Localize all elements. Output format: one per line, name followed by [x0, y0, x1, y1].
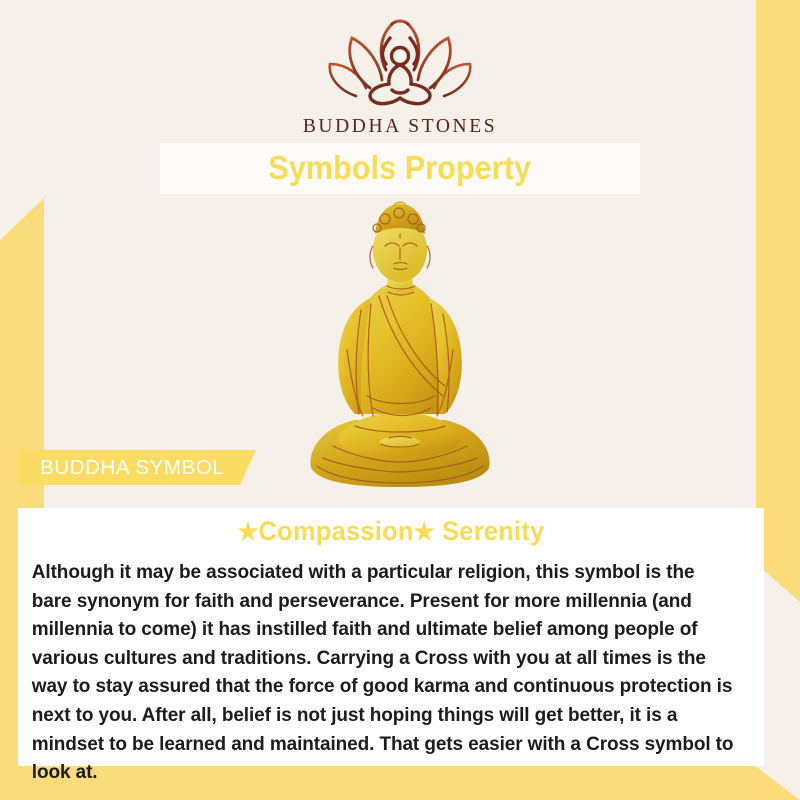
- subtitle-word-compassion: Compassion: [259, 516, 414, 546]
- brand-logo: BUDDHA STONES: [0, 18, 800, 138]
- content-body: Although it may be associated with a par…: [18, 547, 753, 788]
- content-subtitle: ★Compassion★ Serenity: [40, 508, 741, 547]
- symbol-tag: BUDDHA SYMBOL: [18, 450, 256, 485]
- subtitle-word-serenity: Serenity: [435, 516, 545, 546]
- golden-seated-buddha-statue-icon: [293, 200, 508, 495]
- title-banner: Symbols Property: [160, 143, 640, 193]
- infographic-page: BUDDHA STONES Symbols Property: [0, 0, 800, 800]
- brand-name: BUDDHA STONES: [303, 116, 497, 138]
- star-icon-2: ★: [414, 518, 435, 546]
- page-title: Symbols Property: [269, 149, 532, 187]
- lotus-meditation-icon: [312, 18, 488, 110]
- content-card: ★Compassion★ Serenity Although it may be…: [18, 508, 764, 766]
- star-icon-1: ★: [237, 518, 258, 546]
- symbol-tag-label: BUDDHA SYMBOL: [18, 456, 224, 480]
